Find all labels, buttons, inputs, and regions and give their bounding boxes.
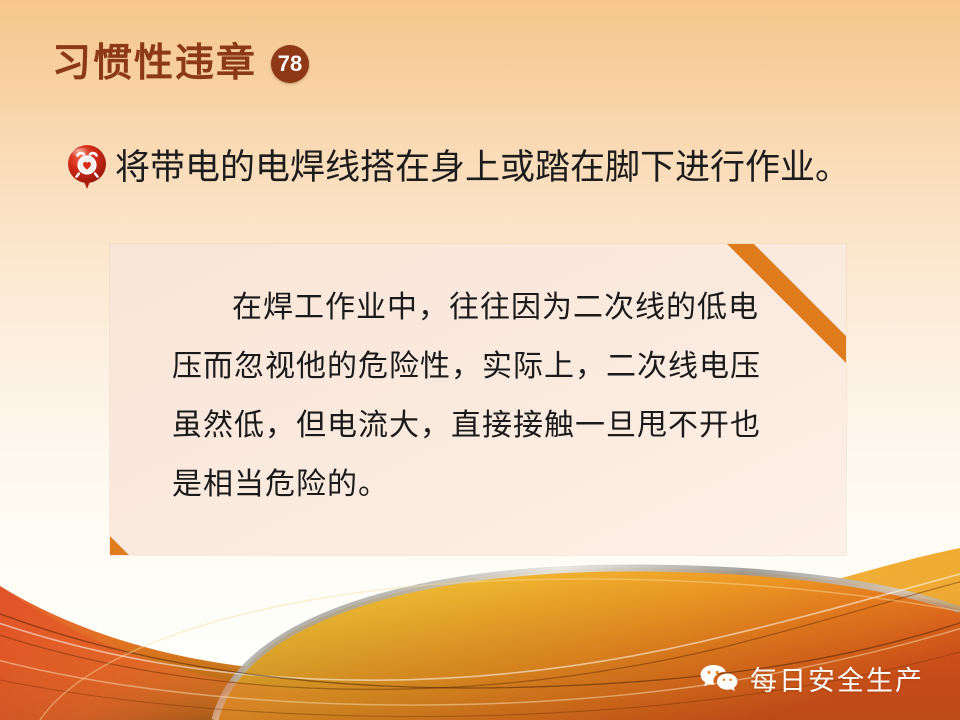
page-title: 习惯性违章 78 [52,44,309,83]
heading-text: 将带电的电焊线搭在身上或踏在脚下进行作业。 [115,149,850,188]
body-paragraph: 在焊工作业中，往往因为二次线的低电压而忽视他的危险性，实际上，二次线电压虽然低，… [110,278,846,514]
wechat-icon [699,663,739,695]
footer-brand-text: 每日安全生产 [750,659,924,698]
footer-brand: 每日安全生产 [699,659,924,698]
red-pin-alarm-clock-icon [63,142,111,194]
content-box: 在焊工作业中，往往因为二次线的低电压而忽视他的危险性，实际上，二次线电压虽然低，… [110,244,846,555]
heading-row: 将带电的电焊线搭在身上或踏在脚下进行作业。 [63,142,850,194]
page-number-badge: 78 [271,45,309,83]
slide-canvas: 习惯性违章 78 [0,0,960,720]
page-title-text: 习惯性违章 [52,44,257,83]
